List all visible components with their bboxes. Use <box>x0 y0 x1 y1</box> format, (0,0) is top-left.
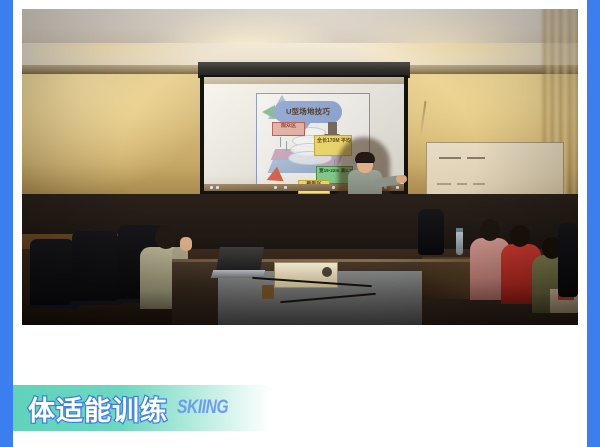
caption-title-cn: 体适能训练 <box>28 389 168 428</box>
caption-title-en: SKIING <box>177 397 228 419</box>
left-blue-rail <box>0 0 13 447</box>
article-image-card: U型场地技巧 观众区 全长170M 平均坡度18 宽19-22m 高6.7m 裁… <box>0 0 600 447</box>
caption-bar: 体适能训练 SKIING <box>13 385 271 431</box>
conference-room-photo: U型场地技巧 观众区 全长170M 平均坡度18 宽19-22m 高6.7m 裁… <box>22 9 578 325</box>
right-blue-rail <box>587 0 600 447</box>
photo-vignette <box>22 9 578 325</box>
